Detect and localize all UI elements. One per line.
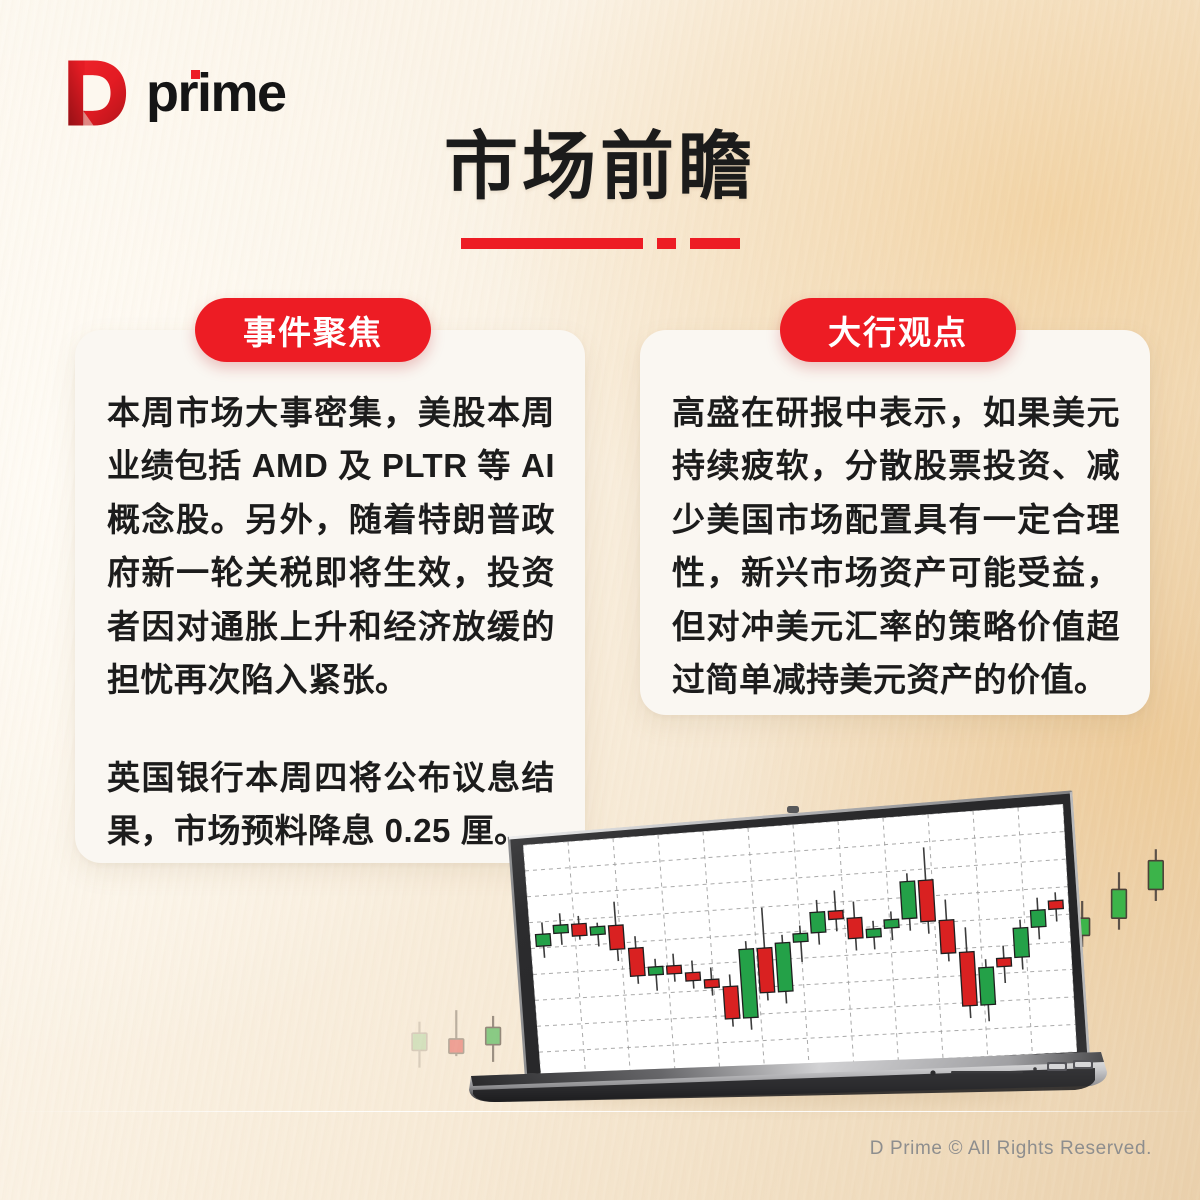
- wordmark-text: prime: [146, 63, 286, 123]
- card-bank-views-body: 高盛在研报中表示，如果美元持续疲软，分散股票投资、减少美国市场配置具有一定合理性…: [640, 330, 1150, 729]
- badge-event-focus: 事件聚焦: [195, 298, 431, 362]
- title-divider: [0, 238, 1200, 249]
- card-bank-views: 大行观点 高盛在研报中表示，如果美元持续疲软，分散股票投资、减少美国市场配置具有…: [640, 330, 1150, 715]
- badge-bank-views: 大行观点: [780, 298, 1016, 362]
- divider-segment-dot: [657, 238, 676, 249]
- card-event-focus: 事件聚焦 本周市场大事密集，美股本周业绩包括 AMD 及 PLTR 等 AI 概…: [75, 330, 585, 863]
- brand-logo: prime: [58, 56, 286, 130]
- divider-segment-long: [461, 238, 643, 249]
- paragraph: 本周市场大事密集，美股本周业绩包括 AMD 及 PLTR 等 AI 概念股。另外…: [107, 386, 555, 707]
- candle: [1148, 849, 1163, 901]
- paragraph: 高盛在研报中表示，如果美元持续疲软，分散股票投资、减少美国市场配置具有一定合理性…: [672, 386, 1120, 707]
- webcam-icon: [787, 806, 799, 813]
- footer-copyright: D Prime © All Rights Reserved.: [870, 1138, 1152, 1160]
- laptop-device: [455, 790, 1115, 1120]
- d-monogram-icon: [58, 56, 132, 130]
- poster-canvas: prime 市场前瞻 事件聚焦 本周市场大事密集，美股本周业绩包括 AMD 及 …: [0, 0, 1200, 1200]
- footer-divider: [0, 1111, 1200, 1112]
- candle: [412, 1022, 427, 1068]
- wordmark-i-dot: [191, 70, 200, 79]
- divider-segment-mid: [690, 238, 740, 249]
- brand-wordmark: prime: [146, 66, 286, 120]
- page-title: 市场前瞻: [0, 130, 1200, 204]
